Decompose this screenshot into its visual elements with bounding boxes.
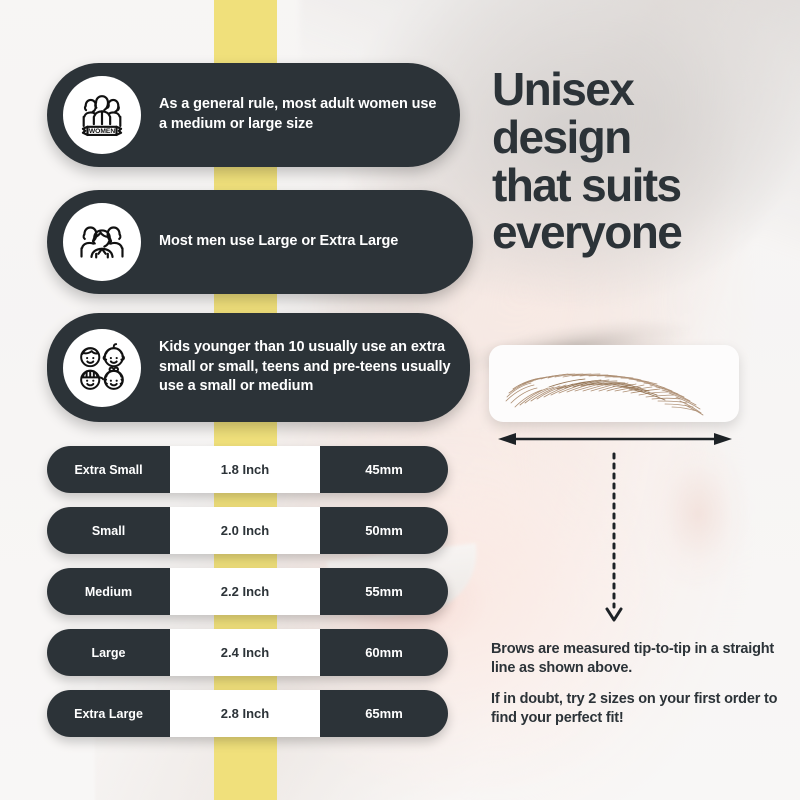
size-inch: 1.8 Inch <box>170 446 320 493</box>
size-mm: 50mm <box>320 507 448 554</box>
men-group-icon <box>63 203 141 281</box>
table-row: Small 2.0 Inch 50mm <box>47 507 448 554</box>
table-row: Large 2.4 Inch 60mm <box>47 629 448 676</box>
info-pill-kids: Kids younger than 10 usually use an extr… <box>47 313 470 422</box>
table-row: Medium 2.2 Inch 55mm <box>47 568 448 615</box>
size-inch: 2.0 Inch <box>170 507 320 554</box>
size-mm: 65mm <box>320 690 448 737</box>
eyebrow-sample-card <box>489 345 739 422</box>
size-mm: 45mm <box>320 446 448 493</box>
page-headline: Unisex design that suits everyone <box>492 66 792 257</box>
kids-group-icon <box>63 329 141 407</box>
info-pill-women: WOMEN As a general rule, most adult wome… <box>47 63 460 167</box>
info-pill-women-text: As a general rule, most adult women use … <box>159 95 460 134</box>
info-pill-men-text: Most men use Large or Extra Large <box>159 232 416 252</box>
size-name: Small <box>47 507 170 554</box>
info-pill-kids-text: Kids younger than 10 usually use an extr… <box>159 338 470 397</box>
headline-line-3: that suits <box>492 162 792 210</box>
eyebrow-illustration <box>489 345 739 422</box>
measurement-note: Brows are measured tip-to-tip in a strai… <box>491 640 791 678</box>
headline-line-4: everyone <box>492 209 792 257</box>
size-inch: 2.2 Inch <box>170 568 320 615</box>
size-mm: 55mm <box>320 568 448 615</box>
women-banner-text: WOMEN <box>89 128 116 135</box>
measurement-arrow <box>496 430 734 448</box>
women-group-icon: WOMEN <box>63 76 141 154</box>
size-inch: 2.4 Inch <box>170 629 320 676</box>
sizing-advice-note: If in doubt, try 2 sizes on your first o… <box>491 690 791 728</box>
size-name: Medium <box>47 568 170 615</box>
size-name: Extra Large <box>47 690 170 737</box>
headline-line-2: design <box>492 114 792 162</box>
info-pill-men: Most men use Large or Extra Large <box>47 190 473 294</box>
table-row: Extra Large 2.8 Inch 65mm <box>47 690 448 737</box>
size-mm: 60mm <box>320 629 448 676</box>
size-inch: 2.8 Inch <box>170 690 320 737</box>
headline-line-1: Unisex <box>492 66 792 114</box>
size-name: Extra Small <box>47 446 170 493</box>
size-name: Large <box>47 629 170 676</box>
dotted-down-arrow-icon <box>604 452 624 627</box>
table-row: Extra Small 1.8 Inch 45mm <box>47 446 448 493</box>
